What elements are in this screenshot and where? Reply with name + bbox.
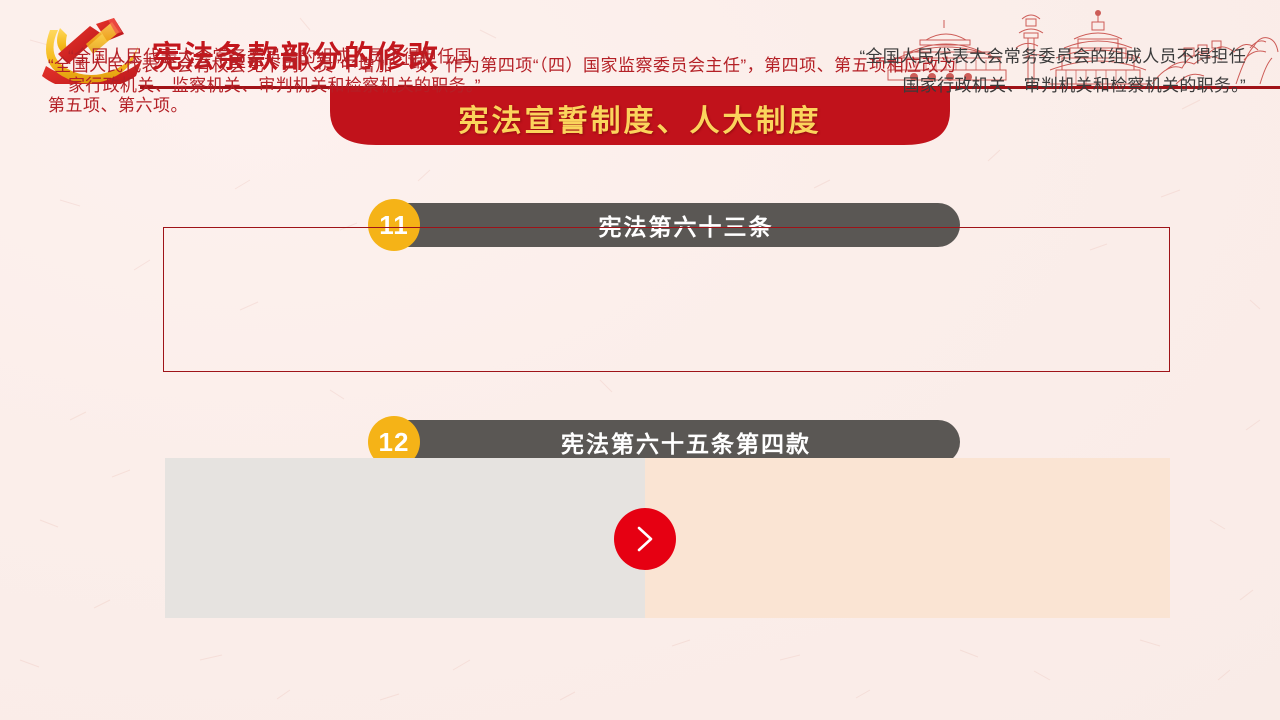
slide-canvas: 宪法条款部分的修改 [0,0,1280,720]
section-12-title: 宪法第六十五条第四款 [527,425,811,459]
comparison-new-panel [645,458,1170,618]
comparison-arrow [614,508,676,570]
chevron-right-icon [632,524,658,554]
comparison-old-text: “全国人民代表大会常务委员会的组成人员不得担任国家行政机关、审判机关和检察机关的… [846,42,1246,100]
comparison-old-panel [165,458,645,618]
section-11-body-box [163,227,1170,372]
section-12-number: 12 [379,427,410,458]
comparison-new-text: “全国人民代表大会常务委员会的组成人员不得担任国家行政机关、监察机关、审判机关和… [68,42,488,100]
